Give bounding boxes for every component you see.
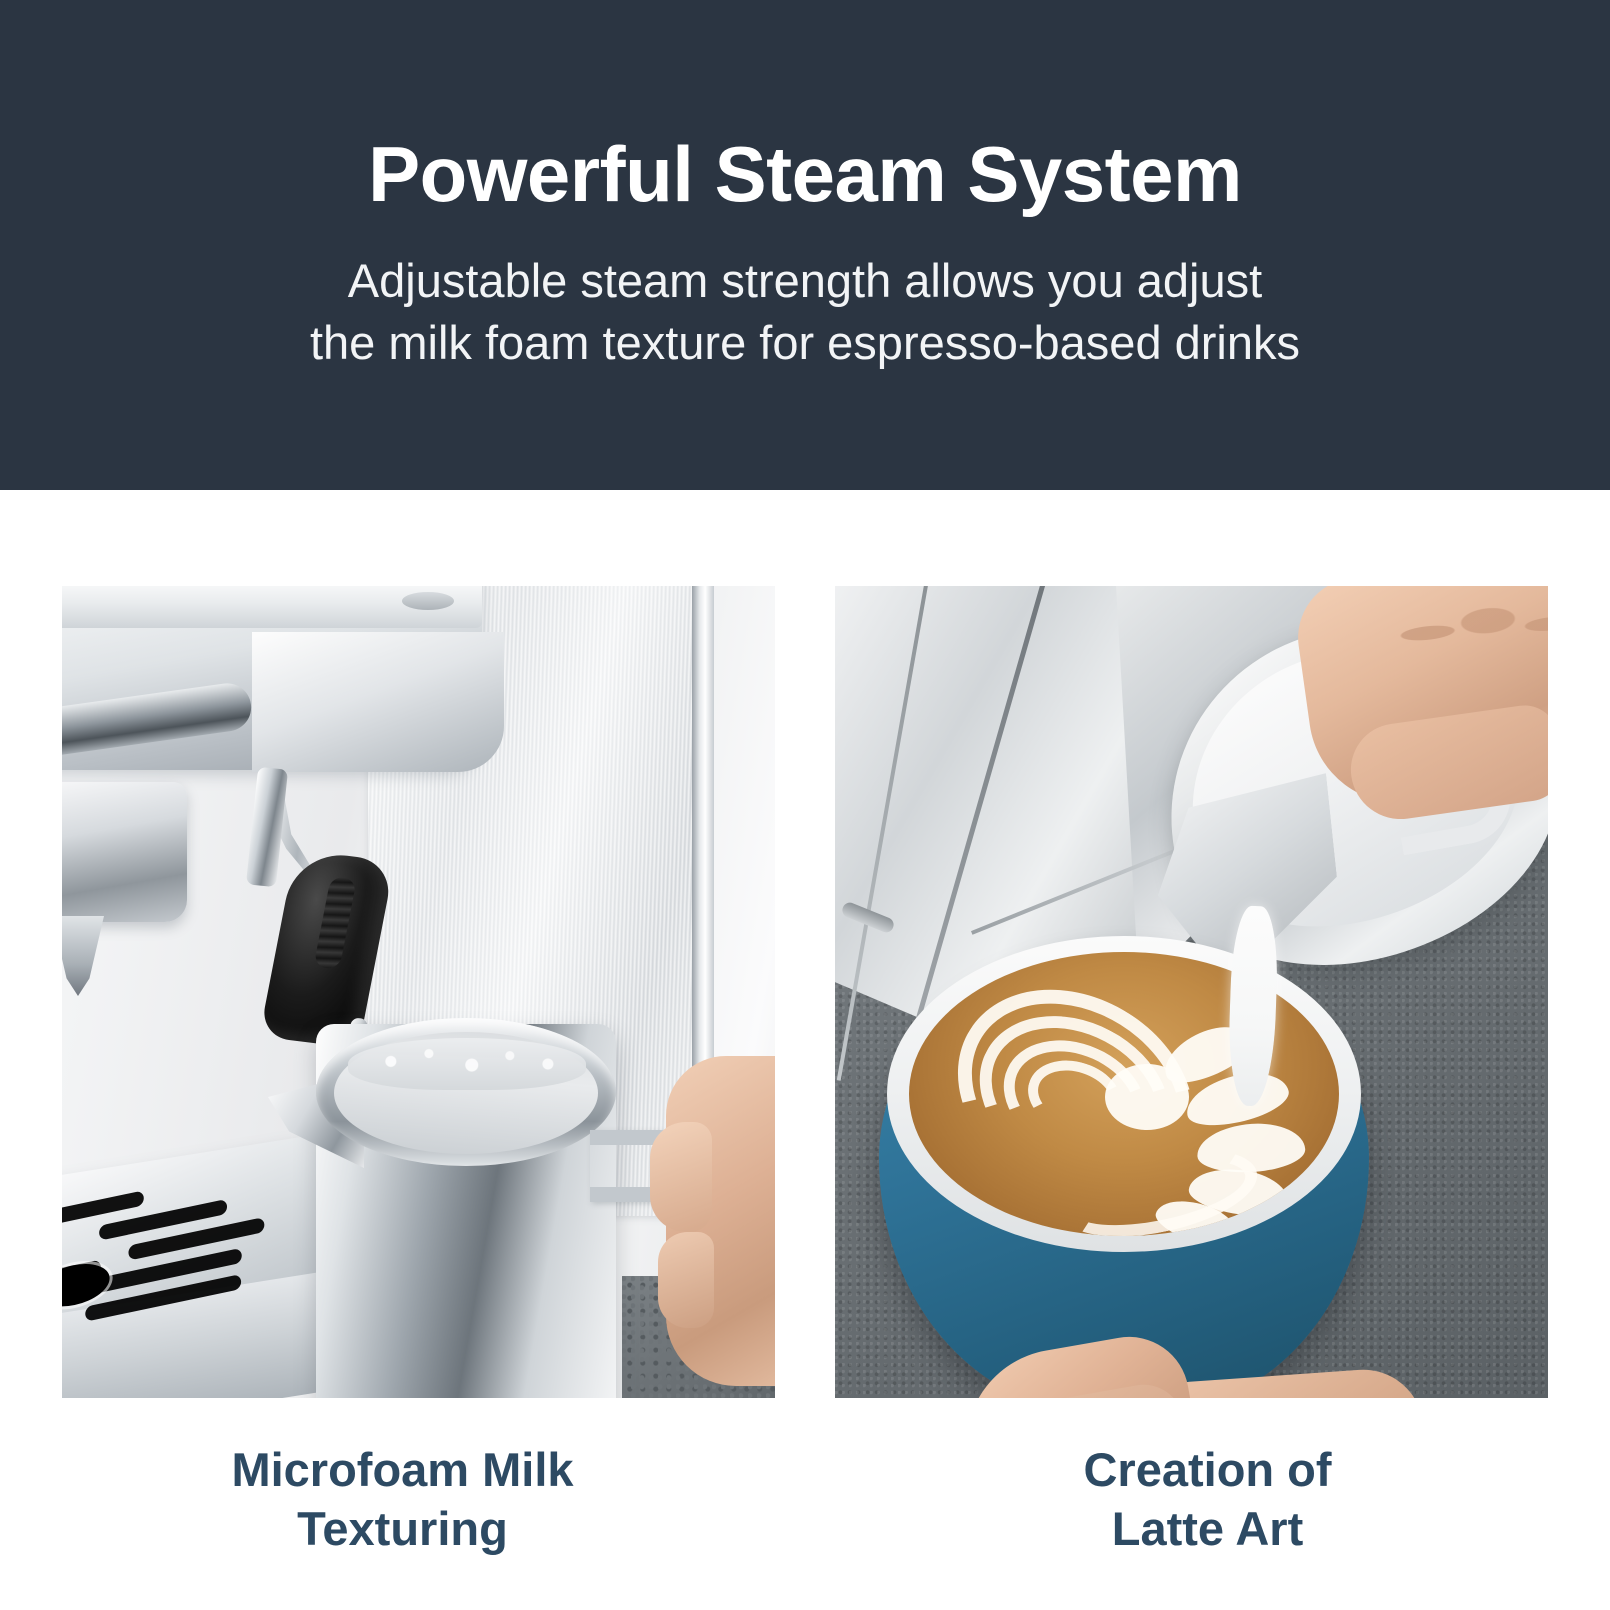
product-feature-poster: Powerful Steam System Adjustable steam s… xyxy=(0,0,1610,1610)
caption-latte-art: Creation of Latte Art xyxy=(805,1418,1610,1610)
caption-right-line-1: Creation of xyxy=(805,1440,1610,1499)
header-band: Powerful Steam System Adjustable steam s… xyxy=(0,0,1610,490)
machine-front-bar xyxy=(252,632,504,772)
photo-microfoam-milk-texturing xyxy=(62,586,775,1398)
subtitle-line-2: the milk foam texture for espresso-based… xyxy=(310,312,1300,374)
page-title: Powerful Steam System xyxy=(368,134,1242,216)
caption-left-line-2: Texturing xyxy=(0,1499,805,1558)
portafilter-basket xyxy=(62,782,187,922)
caption-microfoam-milk-texturing: Microfoam Milk Texturing xyxy=(0,1418,805,1610)
caption-right-line-2: Latte Art xyxy=(805,1499,1610,1558)
page-subtitle: Adjustable steam strength allows you adj… xyxy=(310,250,1300,374)
photo-latte-art-creation xyxy=(835,586,1548,1398)
subtitle-line-1: Adjustable steam strength allows you adj… xyxy=(348,254,1262,307)
caption-left-line-1: Microfoam Milk xyxy=(0,1440,805,1499)
machine-top-indicator xyxy=(402,592,454,610)
image-panel-row xyxy=(0,586,1610,1398)
microfoam-bubbles xyxy=(348,1038,586,1090)
caption-row: Microfoam Milk Texturing Creation of Lat… xyxy=(0,1418,1610,1610)
barista-hand-left-photo xyxy=(666,1056,775,1386)
